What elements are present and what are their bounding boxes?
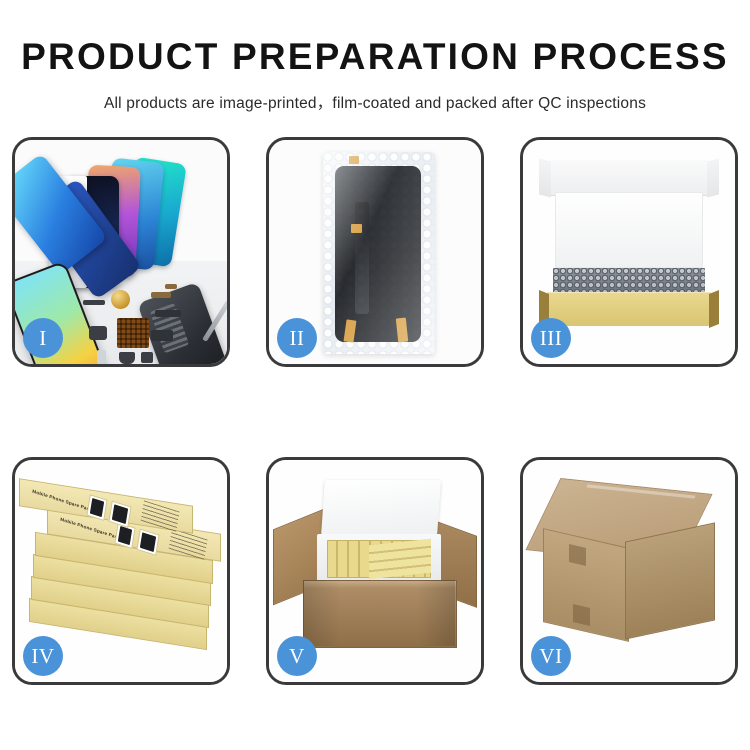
step-panel-3[interactable]: III	[520, 137, 738, 367]
bubble-wrapped-contents	[553, 268, 705, 294]
sim-tray-part	[97, 350, 106, 364]
box-lid-open	[549, 160, 709, 196]
kraft-box-front	[547, 292, 711, 326]
bubble-wrap-pouch	[323, 152, 435, 354]
product-preparation-infographic: PRODUCT PREPARATION PROCESS All products…	[0, 0, 750, 750]
step-panel-6[interactable]: VI	[520, 457, 738, 685]
step-panel-4[interactable]: Mobile Phone Spare Parts Mobile Phone Sp…	[12, 457, 230, 685]
foam-sheet	[555, 192, 703, 268]
foam-box-lid	[321, 480, 441, 536]
yellow-boxes-row-b	[369, 539, 431, 580]
step-panel-1[interactable]: I	[12, 137, 230, 367]
step-badge-2: II	[277, 318, 317, 358]
carton-shading	[303, 580, 455, 646]
vibration-motor-part	[111, 290, 130, 309]
flex-cable-b	[151, 330, 173, 341]
step-badge-5: V	[277, 636, 317, 676]
carton-tape-upper	[569, 544, 586, 566]
film-sheen	[323, 152, 435, 354]
logic-board-part	[117, 318, 149, 348]
box-window-a1	[86, 494, 107, 521]
step-badge-4: IV	[23, 636, 63, 676]
connector-part-b	[89, 326, 107, 340]
flex-cable-a	[155, 310, 181, 317]
page-subtitle: All products are image-printed，film-coat…	[0, 91, 750, 113]
button-part	[141, 352, 153, 363]
speaker-part	[119, 352, 135, 364]
process-step-grid: I II III	[12, 137, 738, 687]
page-title: PRODUCT PREPARATION PROCESS	[0, 38, 750, 77]
step-badge-3: III	[531, 318, 571, 358]
carton-right-face	[625, 522, 715, 639]
step-badge-6: VI	[531, 636, 571, 676]
header: PRODUCT PREPARATION PROCESS All products…	[0, 0, 750, 113]
step-badge-1: I	[23, 318, 63, 358]
camera-bracket-part	[151, 292, 171, 298]
connector-part-a	[83, 300, 105, 305]
step-panel-2[interactable]: II	[266, 137, 484, 367]
carton-tape-lower	[573, 604, 590, 626]
step-panel-5[interactable]: V	[266, 457, 484, 685]
small-bracket-part	[165, 284, 177, 289]
